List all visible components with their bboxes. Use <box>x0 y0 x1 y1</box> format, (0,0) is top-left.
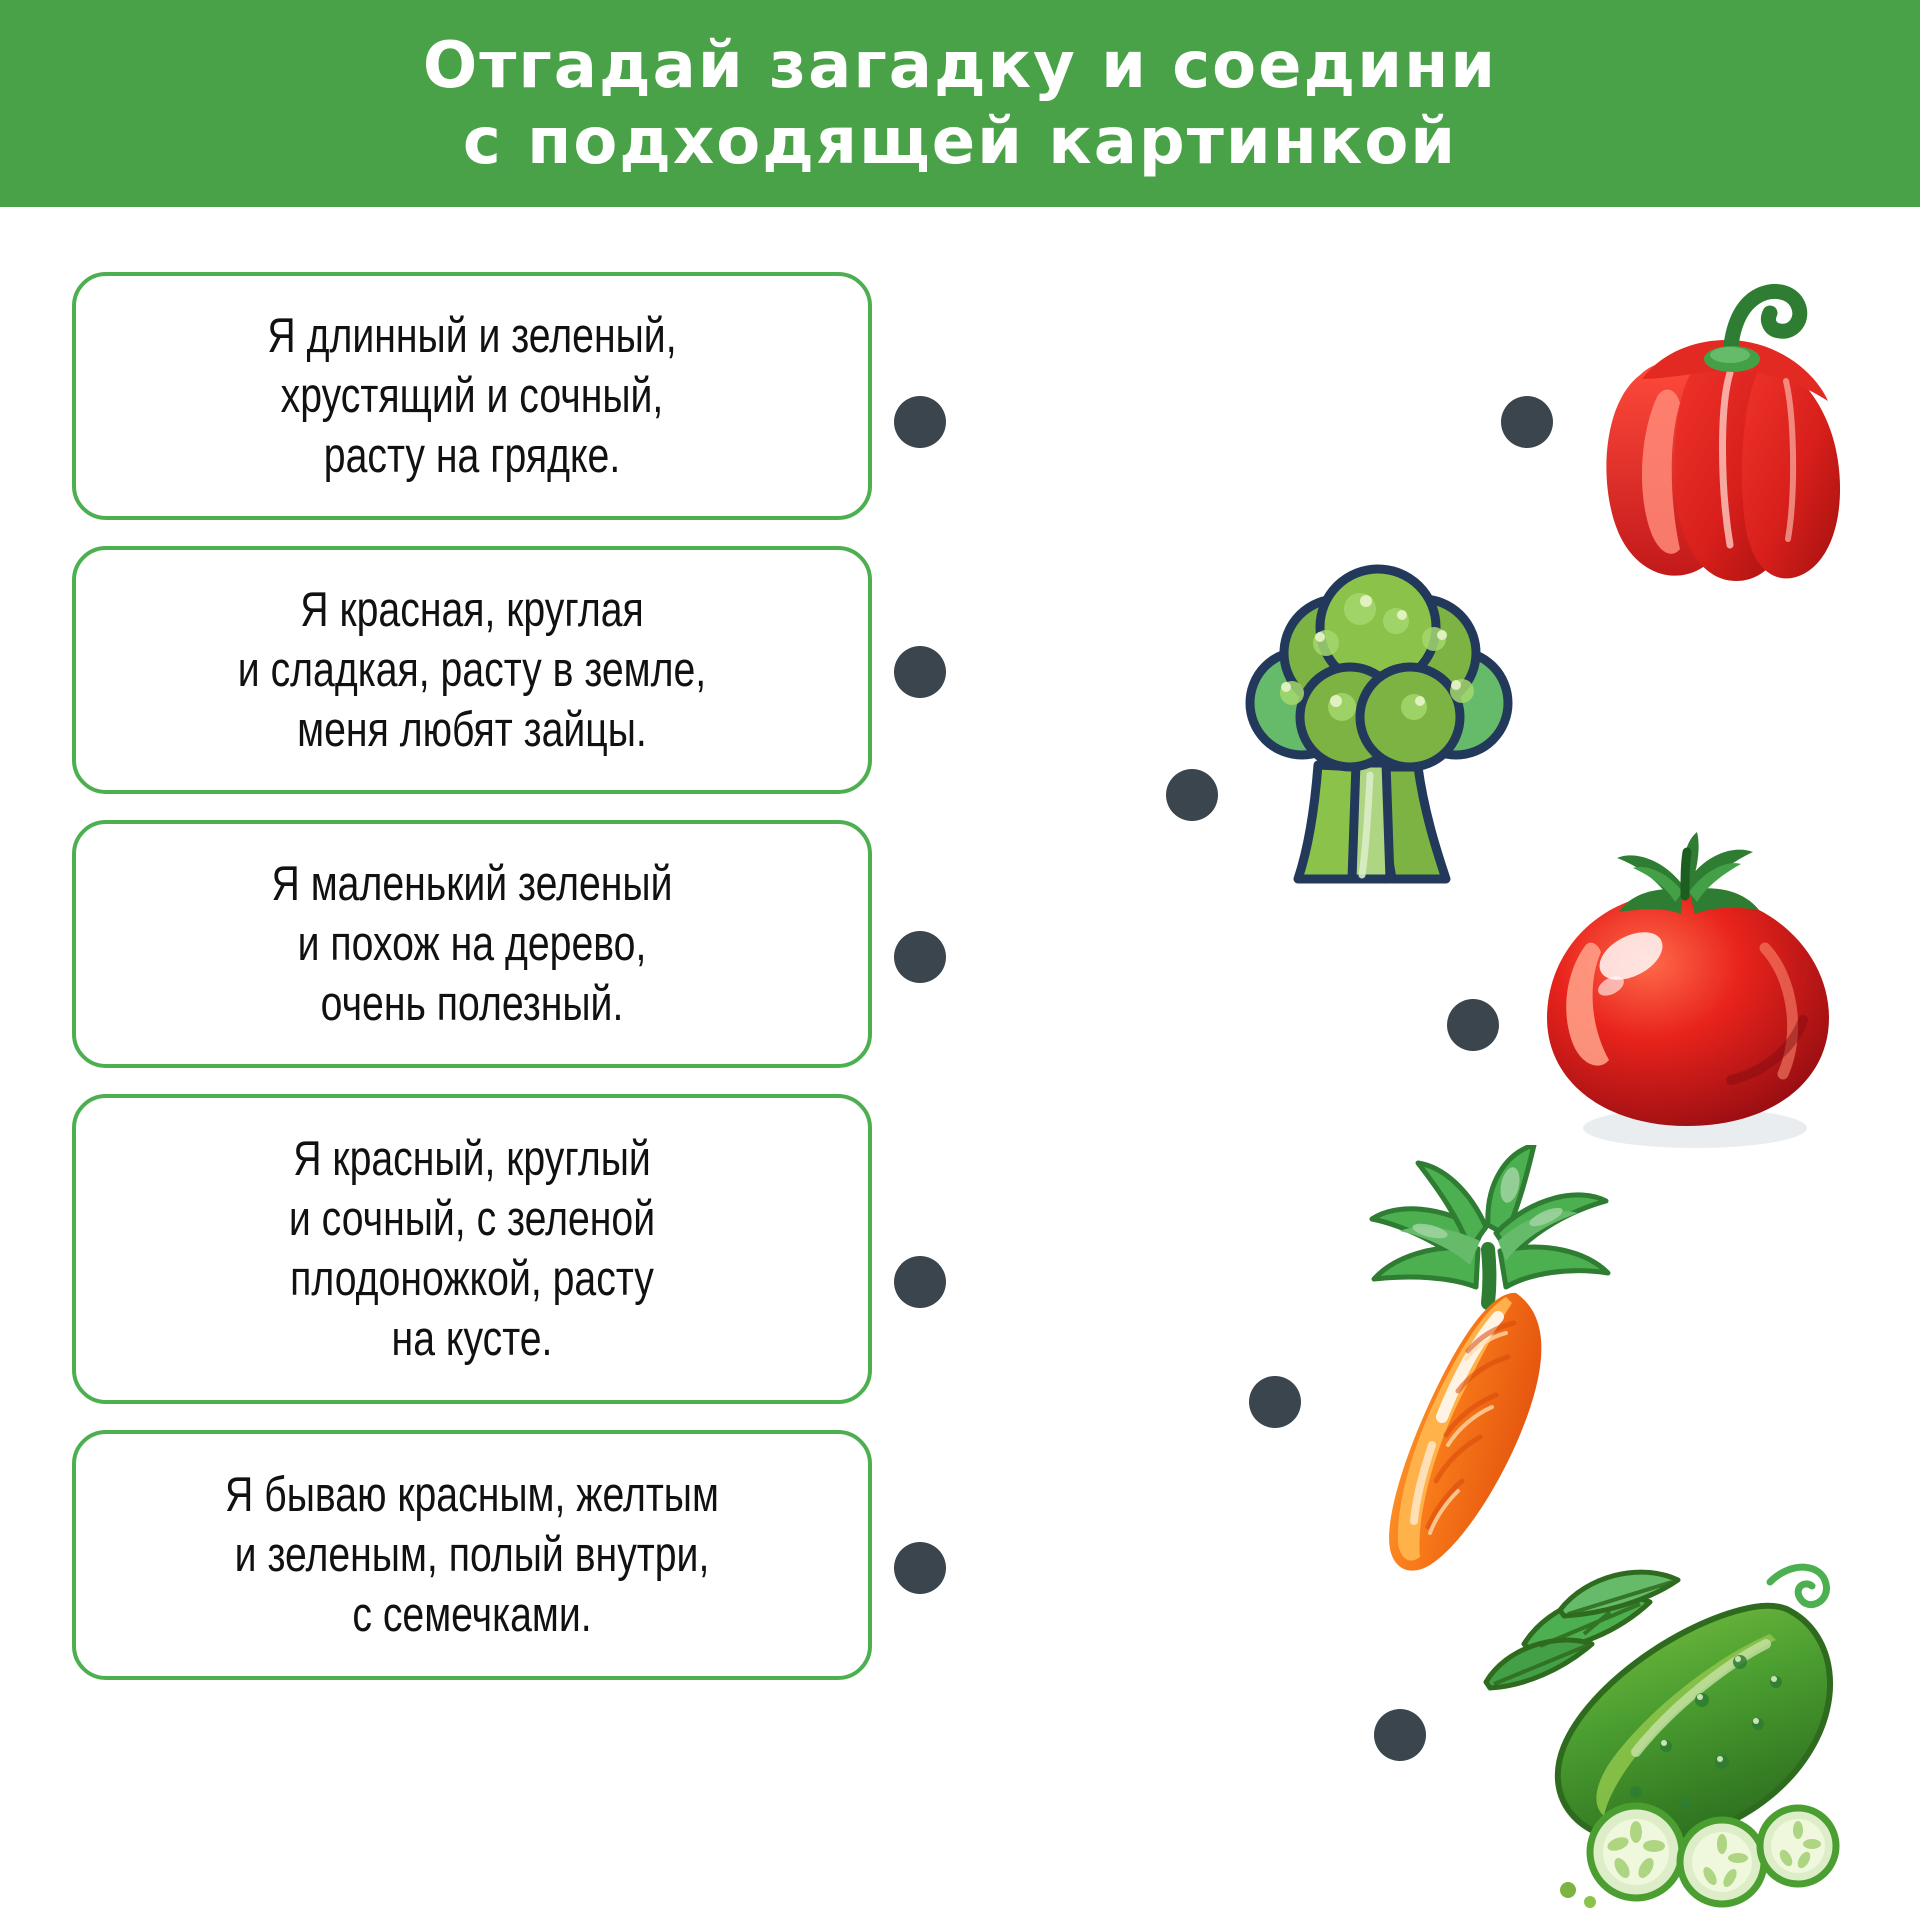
tomato-image[interactable] <box>1525 828 1845 1158</box>
bell-pepper-image[interactable] <box>1580 255 1880 595</box>
riddle-text-5: Я бываю красным, желтым и зеленым, полый… <box>176 1465 768 1645</box>
riddle-card-1[interactable]: Я длинный и зеленый, хрустящий и сочный,… <box>72 272 872 520</box>
riddles-column: Я длинный и зеленый, хрустящий и сочный,… <box>72 272 872 1706</box>
right-connector-dot-carrot[interactable] <box>1249 1376 1301 1428</box>
left-connector-dot-2[interactable] <box>894 646 946 698</box>
riddle-text-3: Я маленький зеленый и похож на дерево, о… <box>176 854 768 1034</box>
right-connector-dot-tomato[interactable] <box>1447 999 1499 1051</box>
broccoli-image[interactable] <box>1210 535 1540 895</box>
left-connector-dot-4[interactable] <box>894 1256 946 1308</box>
right-connector-dot-bell-pepper[interactable] <box>1501 396 1553 448</box>
riddle-text-4: Я красный, круглый и сочный, с зеленой п… <box>176 1129 768 1369</box>
left-connector-dot-5[interactable] <box>894 1542 946 1594</box>
left-connector-dot-3[interactable] <box>894 931 946 983</box>
carrot-image[interactable] <box>1310 1145 1620 1575</box>
header-title-line-2: с подходящей картинкой <box>463 104 1457 180</box>
worksheet-page: Отгадай загадку и соедини с подходящей к… <box>0 0 1920 1920</box>
riddle-text-2: Я красная, круглая и сладкая, расту в зе… <box>176 580 768 760</box>
riddle-card-4[interactable]: Я красный, круглый и сочный, с зеленой п… <box>72 1094 872 1404</box>
riddle-card-3[interactable]: Я маленький зеленый и похож на дерево, о… <box>72 820 872 1068</box>
header-banner: Отгадай загадку и соедини с подходящей к… <box>0 0 1920 207</box>
riddle-card-2[interactable]: Я красная, круглая и сладкая, расту в зе… <box>72 546 872 794</box>
cucumber-image[interactable] <box>1440 1540 1860 1910</box>
left-connector-dot-1[interactable] <box>894 396 946 448</box>
riddle-card-5[interactable]: Я бываю красным, желтым и зеленым, полый… <box>72 1430 872 1680</box>
right-connector-dot-cucumber[interactable] <box>1374 1709 1426 1761</box>
riddle-text-1: Я длинный и зеленый, хрустящий и сочный,… <box>176 306 768 486</box>
header-title-line-1: Отгадай загадку и соедини <box>423 28 1497 104</box>
